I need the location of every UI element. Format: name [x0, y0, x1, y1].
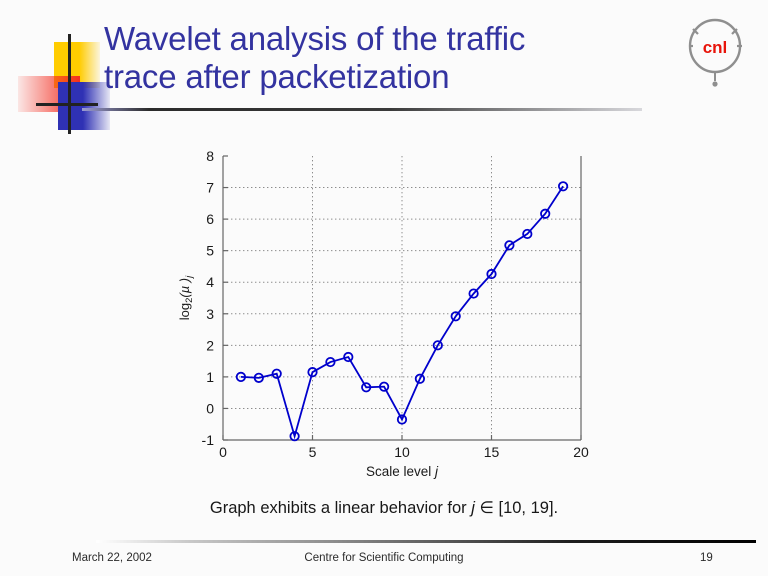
y-tick-label: 7: [206, 180, 214, 196]
page-title-line-2: trace after packetization: [104, 58, 644, 96]
cnl-logo-text: cnl: [703, 38, 728, 57]
y-tick-label: 1: [206, 369, 214, 385]
footer-affiliation: Centre for Scientific Computing: [0, 552, 768, 564]
x-tick-label: 20: [573, 444, 589, 460]
caption-prefix: Graph exhibits a linear behavior for: [210, 499, 471, 517]
decorative-horizontal-line: [36, 103, 98, 106]
x-tick-label: 15: [484, 444, 500, 460]
wavelet-logscale-diagram: 05101520 -1012345678 Scale level jlog2(µ…: [175, 140, 595, 480]
decorative-blue-square: [58, 82, 110, 130]
y-tick-label: 3: [206, 306, 214, 322]
y-tick-label: 6: [206, 211, 214, 227]
y-tick-label: 0: [206, 400, 214, 416]
y-tick-label: 5: [206, 243, 214, 259]
slide-caption: Graph exhibits a linear behavior for j ∈…: [0, 498, 768, 518]
cnl-logo-svg: cnl: [684, 16, 746, 90]
chart-canvas: 05101520 -1012345678 Scale level jlog2(µ…: [175, 140, 595, 480]
y-tick-label: 4: [206, 274, 214, 290]
decorative-squares-cluster: [18, 34, 114, 134]
footer-divider: [96, 540, 756, 543]
cnl-logo: cnl: [684, 16, 746, 90]
slide-footer: March 22, 2002 Centre for Scientific Com…: [0, 535, 768, 576]
x-tick-label: 0: [219, 444, 227, 460]
chart-background: [175, 140, 595, 480]
y-tick-label: 2: [206, 337, 214, 353]
page-title: Wavelet analysis of the traffic trace af…: [104, 20, 644, 96]
decorative-vertical-line: [68, 34, 71, 134]
y-tick-label: 8: [206, 148, 214, 164]
x-tick-label: 10: [394, 444, 410, 460]
y-tick-label: -1: [202, 432, 215, 448]
slide-header: Wavelet analysis of the traffic trace af…: [0, 0, 768, 120]
footer-page-number: 19: [700, 552, 730, 564]
x-axis-title: Scale level j: [366, 464, 439, 479]
caption-suffix: ∈ [10, 19].: [475, 499, 558, 517]
x-tick-label: 5: [309, 444, 317, 460]
page-title-line-1: Wavelet analysis of the traffic: [104, 20, 644, 58]
title-divider: [82, 108, 642, 111]
